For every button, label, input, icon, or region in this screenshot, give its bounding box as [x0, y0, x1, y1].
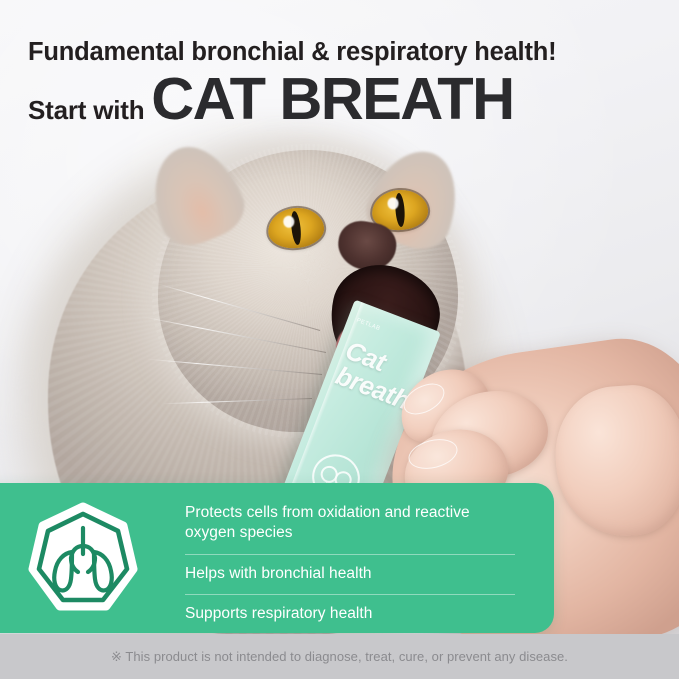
headline-block: Fundamental bronchial & respiratory heal…: [28, 38, 658, 128]
product-banner: PETLAB Cat breath Fundamental bronchial …: [0, 0, 679, 679]
headline-prefix: Start with: [28, 95, 144, 126]
headline-brand: CAT BREATH: [152, 71, 514, 128]
benefit-item: Supports respiratory health: [185, 594, 515, 634]
sachet-brand-text: PETLAB: [356, 318, 381, 332]
lungs-hexagon-icon: [26, 502, 140, 614]
headline-subtitle: Fundamental bronchial & respiratory heal…: [28, 38, 658, 67]
benefits-list: Protects cells from oxidation and reacti…: [185, 495, 515, 635]
headline-main-row: Start with CAT BREATH: [28, 71, 658, 128]
disclaimer-text: ※ This product is not intended to diagno…: [111, 649, 568, 665]
benefit-item: Helps with bronchial health: [185, 554, 515, 594]
benefits-panel: Protects cells from oxidation and reacti…: [0, 483, 554, 633]
benefit-item: Protects cells from oxidation and reacti…: [185, 495, 515, 554]
disclaimer-strip: ※ This product is not intended to diagno…: [0, 634, 679, 679]
